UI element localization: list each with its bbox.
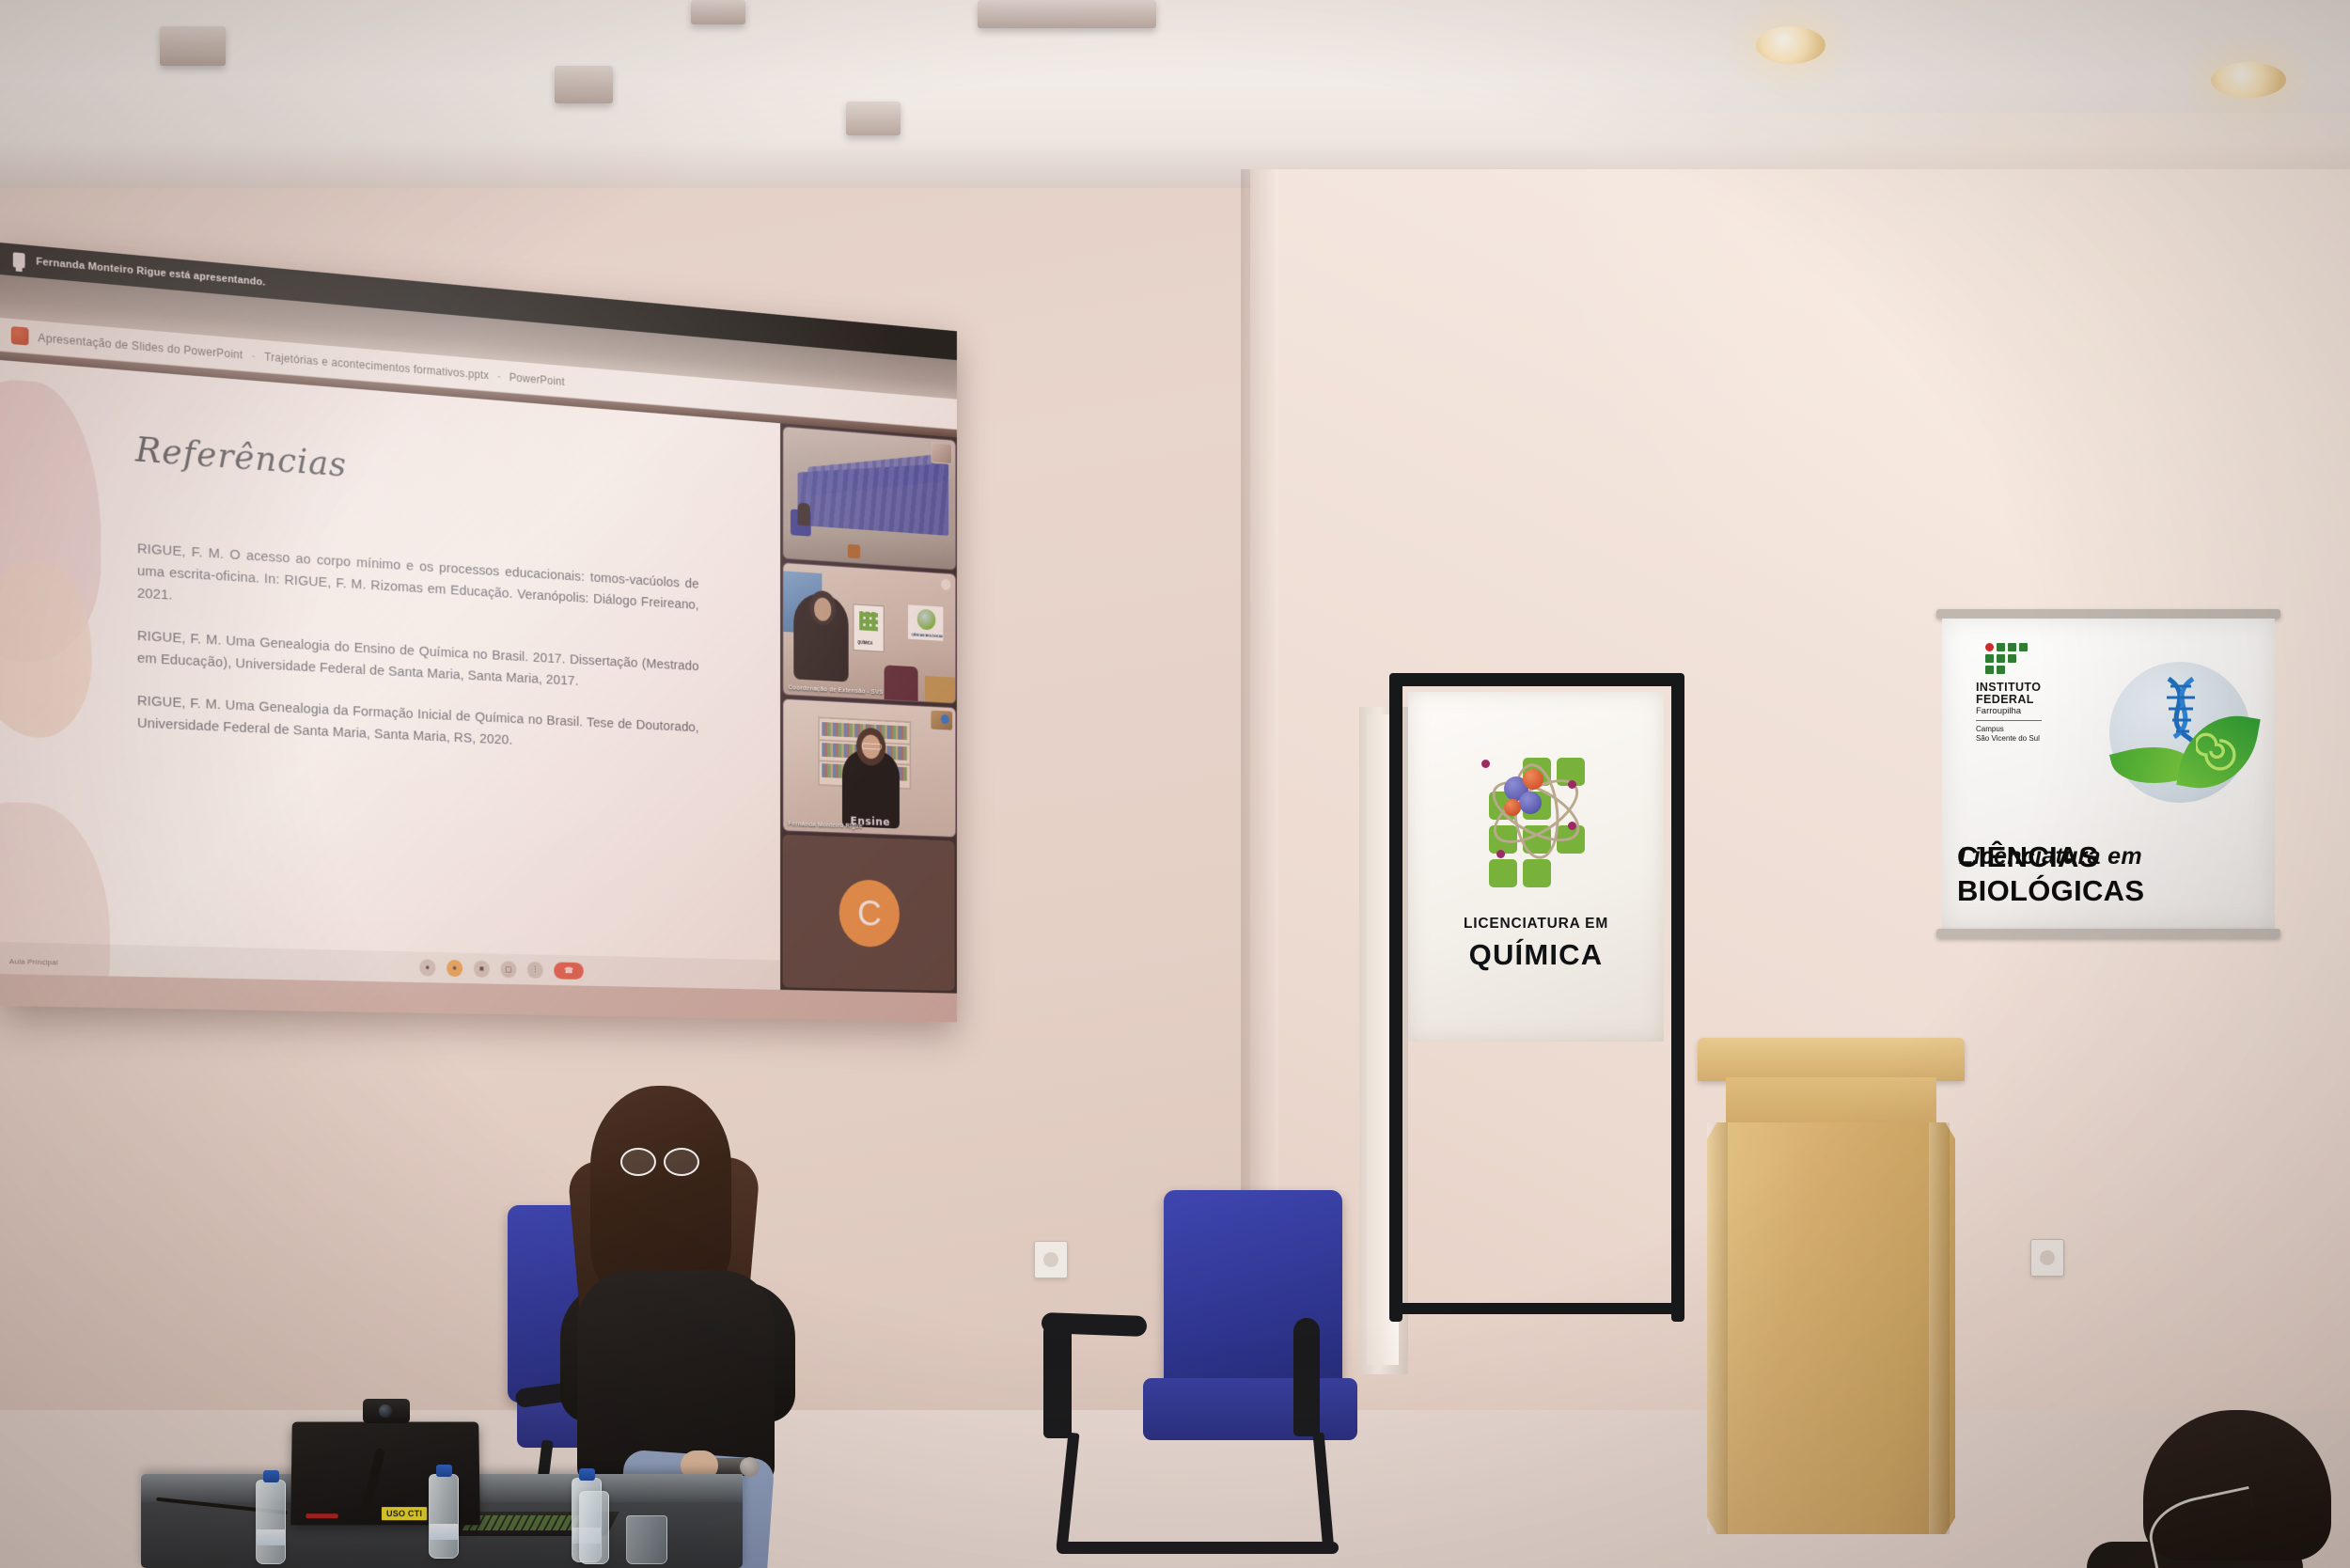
spiral-icon: [2196, 731, 2243, 778]
bottle-label: [430, 1524, 458, 1540]
institute-line3: Farroupilha: [1976, 706, 2053, 716]
chair-arm-left-top: [1042, 1312, 1148, 1337]
frame-bar-top: [1389, 673, 1684, 686]
electron: [1496, 850, 1505, 858]
if-logo-grid: [1985, 643, 2029, 675]
quimica-logo: [1470, 741, 1602, 882]
hangup-icon[interactable]: ☎: [554, 962, 584, 980]
frame-bar-bottom: [1389, 1303, 1684, 1314]
institute-line1: INSTITUTO: [1976, 681, 2053, 694]
status-dot: [941, 714, 949, 724]
if-grid-square: [1523, 859, 1551, 887]
frame-bar-right: [1671, 673, 1684, 1322]
chair-arm-right: [1293, 1318, 1320, 1436]
ceiling-duct: [555, 66, 613, 103]
chair-empty: [1051, 1190, 1361, 1566]
ceiling-lamp: [1756, 26, 1825, 64]
video-tile-avatar[interactable]: C: [783, 835, 955, 991]
electron: [1568, 822, 1576, 830]
reference-item: RIGUE, F. M. O acesso ao corpo mínimo e …: [137, 538, 699, 636]
podium-top: [1698, 1038, 1965, 1081]
if-grid-square: [1489, 859, 1517, 887]
bottle-cap: [436, 1465, 452, 1477]
app-name-label: PowerPoint: [509, 370, 565, 387]
chair-leg: [1057, 1433, 1080, 1550]
campus-line1: Campus: [1976, 725, 2053, 734]
webcam-feed-image: Ensine: [783, 699, 955, 837]
reference-item: RIGUE, F. M. Uma Genealogia da Formação …: [137, 690, 699, 760]
chair-arm-left: [1043, 1318, 1072, 1438]
if-logo-square: [2019, 643, 2028, 651]
if-logo-dot: [1985, 643, 1994, 651]
water-bottle: [256, 1480, 286, 1564]
ceiling-duct: [691, 0, 745, 24]
red-chair: [885, 665, 918, 700]
bottle-label: [257, 1529, 285, 1545]
presenter-glasses: [620, 1148, 699, 1172]
water-glass: [626, 1515, 667, 1564]
mic-status-icon: [941, 579, 951, 590]
ceiling-duct: [160, 26, 226, 66]
if-logo-square: [1985, 666, 1994, 674]
wall-outlet[interactable]: [2030, 1239, 2064, 1277]
wooden-stool: [848, 544, 860, 559]
chair-leg: [1313, 1433, 1335, 1552]
bottle-cap: [579, 1468, 595, 1481]
quimica-banner-stand: LICENCIATURA EM QUÍMICA: [1389, 673, 1690, 1322]
self-view-thumbnail: [931, 443, 952, 465]
banner-mini-text: QUÍMICA: [857, 640, 872, 646]
stage-person: [797, 502, 809, 525]
quimica-banner-line1: LICENCIATURA EM: [1408, 916, 1664, 933]
banner-cloth: INSTITUTO FEDERAL Farroupilha Campus São…: [1942, 619, 2275, 929]
electron: [1568, 780, 1576, 789]
nucleus-particle: [1504, 799, 1521, 816]
water-bottle: [429, 1474, 459, 1559]
video-tile-auditorium[interactable]: [783, 426, 957, 570]
if-logo-square: [2008, 643, 2016, 651]
if-grid-icon: [859, 611, 878, 631]
podium: [1698, 1038, 1965, 1534]
globe-icon: [917, 609, 936, 631]
quimica-banner: LICENCIATURA EM QUÍMICA: [1408, 692, 1664, 1042]
campus-line2: São Vicente do Sul: [1976, 734, 2053, 744]
podium-edge-left: [1707, 1122, 1728, 1534]
laptop-indicator: [305, 1513, 337, 1518]
nucleus-particle: [1523, 769, 1543, 790]
water-bottle: [579, 1491, 609, 1564]
auditorium-scene: Fernanda Monteiro Rigue está apresentand…: [0, 0, 2350, 1568]
participant-silhouette: [794, 592, 849, 682]
projection-screen: Fernanda Monteiro Rigue está apresentand…: [0, 243, 957, 1022]
banner-mini-text: CIÊNCIAS BIOLÓGICAS: [912, 634, 943, 639]
biologicas-banner-mini: CIÊNCIAS BIOLÓGICAS: [908, 605, 943, 642]
lens-right: [664, 1148, 699, 1176]
biologicas-line2: CIÊNCIAS BIOLÓGICAS: [1957, 840, 2275, 908]
title-separator-2: -: [497, 369, 501, 383]
wooden-desk: [925, 676, 955, 703]
nucleus-particle: [1519, 792, 1542, 814]
banner-rod-top: [1936, 609, 2280, 619]
laptop-keyboard[interactable]: [462, 1515, 584, 1530]
instituto-federal-logo-block: INSTITUTO FEDERAL Farroupilha Campus São…: [1976, 643, 2053, 744]
wall-outlet[interactable]: [1034, 1241, 1068, 1278]
mic-icon[interactable]: ●: [419, 959, 435, 977]
banner-rod-bottom: [1936, 929, 2280, 938]
reference-list: RIGUE, F. M. O acesso ao corpo mínimo e …: [137, 538, 699, 778]
podium-body: [1707, 1122, 1955, 1534]
asset-sticker: USO CTI: [382, 1507, 427, 1520]
slide-heading: Referências: [135, 429, 347, 484]
podium-edge-right: [1929, 1122, 1950, 1534]
camera-icon[interactable]: ●: [446, 959, 462, 977]
divider: [1976, 720, 2042, 721]
video-tile-coordenacao[interactable]: QUÍMICA CIÊNCIAS BIOLÓGICAS: [783, 562, 957, 704]
ceiling-duct: [978, 0, 1156, 28]
if-logo-square: [1997, 666, 2005, 674]
if-logo-square: [1997, 643, 2005, 651]
reference-item: RIGUE, F. M. Uma Genealogia do Ensino de…: [137, 625, 699, 698]
glasses-icon: [862, 744, 882, 750]
chair-seat: [1143, 1378, 1357, 1440]
captions-icon[interactable]: ▢: [500, 961, 516, 978]
if-logo-square: [1985, 654, 1994, 663]
quimica-banner-mini: QUÍMICA: [853, 604, 884, 652]
if-logo-square: [2008, 654, 2016, 663]
avatar: C: [839, 879, 900, 948]
bottle-cap: [263, 1470, 279, 1482]
ceiling-duct: [846, 102, 901, 135]
lens-left: [620, 1148, 656, 1176]
webcam-icon: [363, 1399, 410, 1423]
institute-line2: FEDERAL: [1976, 694, 2053, 706]
audience-member-foreground: [2143, 1410, 2341, 1568]
auditorium-feed-image: [783, 427, 955, 569]
frame-bar-left: [1389, 673, 1402, 1322]
present-icon[interactable]: ■: [474, 960, 490, 977]
title-separator-1: -: [252, 349, 256, 362]
quimica-banner-line2: QUÍMICA: [1408, 938, 1664, 972]
presentation-icon: [13, 252, 25, 268]
chair-base: [1057, 1542, 1339, 1554]
powerpoint-icon: [11, 326, 29, 346]
podium-neck: [1726, 1077, 1936, 1126]
more-icon[interactable]: ⋮: [527, 961, 543, 978]
electron: [1481, 760, 1490, 768]
projected-desktop: Fernanda Monteiro Rigue está apresentand…: [0, 243, 957, 1022]
video-tile-presenter[interactable]: Ensine Fernanda Monteiro Rigue: [783, 698, 957, 838]
if-logo-square: [1997, 654, 2005, 663]
ceiling-lamp: [2211, 62, 2286, 98]
webcam-feed-image: QUÍMICA CIÊNCIAS BIOLÓGICAS: [783, 563, 955, 703]
biologicas-globe-logo: [2109, 662, 2250, 803]
biologicas-banner: INSTITUTO FEDERAL Farroupilha Campus São…: [1936, 609, 2280, 938]
meet-participant-strip: QUÍMICA CIÊNCIAS BIOLÓGICAS: [780, 423, 957, 993]
meet-status-label: Aula Principal: [9, 957, 58, 966]
